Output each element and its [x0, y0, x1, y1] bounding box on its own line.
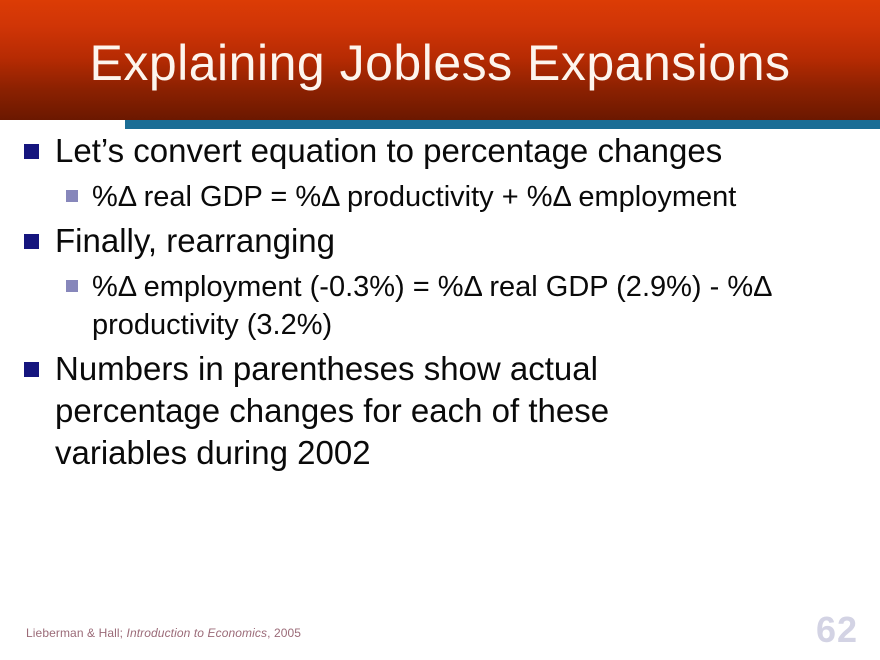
slide-body: Let’s convert equation to percentage cha…	[0, 130, 880, 474]
bullet-text: Numbers in parentheses show actual perce…	[55, 348, 730, 474]
page-number: 62	[816, 612, 858, 648]
sub-bullet-square-icon	[66, 280, 78, 292]
citation-authors: Lieberman & Hall;	[26, 626, 127, 640]
bullet-item-4: %Δ employment (-0.3%) = %Δ real GDP (2.9…	[0, 268, 880, 344]
citation-year: , 2005	[267, 626, 301, 640]
bullet-item-2: %Δ real GDP = %Δ productivity + %Δ emplo…	[0, 178, 880, 216]
bullet-text: Let’s convert equation to percentage cha…	[55, 130, 730, 172]
sub-bullet-square-icon	[66, 190, 78, 202]
bullet-square-icon	[24, 234, 39, 249]
bullet-item-5: Numbers in parentheses show actual perce…	[0, 348, 880, 474]
footer-citation: Lieberman & Hall; Introduction to Econom…	[26, 626, 301, 640]
bullet-item-1: Let’s convert equation to percentage cha…	[0, 130, 880, 172]
bullet-item-3: Finally, rearranging	[0, 220, 880, 262]
bullet-square-icon	[24, 144, 39, 159]
citation-title: Introduction to Economics	[127, 626, 268, 640]
sub-bullet-text: %Δ employment (-0.3%) = %Δ real GDP (2.9…	[92, 268, 850, 344]
bullet-square-icon	[24, 362, 39, 377]
bullet-text: Finally, rearranging	[55, 220, 730, 262]
title-accent-bar	[125, 120, 880, 129]
slide-title: Explaining Jobless Expansions	[0, 0, 880, 120]
slide: Explaining Jobless Expansions Let’s conv…	[0, 0, 880, 660]
sub-bullet-text: %Δ real GDP = %Δ productivity + %Δ emplo…	[92, 178, 850, 216]
